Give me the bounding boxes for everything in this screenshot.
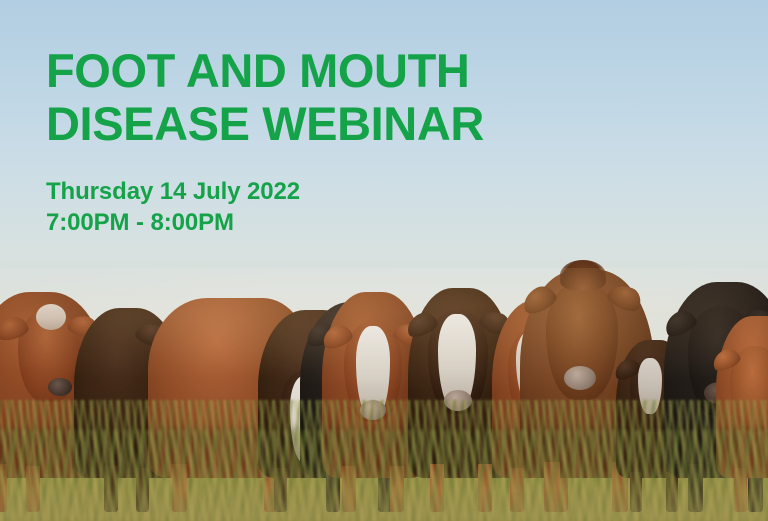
banner-date-time: Thursday 14 July 2022 7:00PM - 8:00PM <box>46 150 646 238</box>
banner-text-block: FOOT AND MOUTH DISEASE WEBINAR Thursday … <box>46 44 646 238</box>
cow-face-blaze <box>36 304 66 330</box>
cow-forelock <box>560 260 606 290</box>
webinar-promo-banner: FOOT AND MOUTH DISEASE WEBINAR Thursday … <box>0 0 768 521</box>
cow-muzzle <box>564 366 596 390</box>
grass-bottom-blur <box>0 467 768 521</box>
banner-headline: FOOT AND MOUTH DISEASE WEBINAR <box>46 44 646 150</box>
cow-muzzle <box>48 378 72 396</box>
